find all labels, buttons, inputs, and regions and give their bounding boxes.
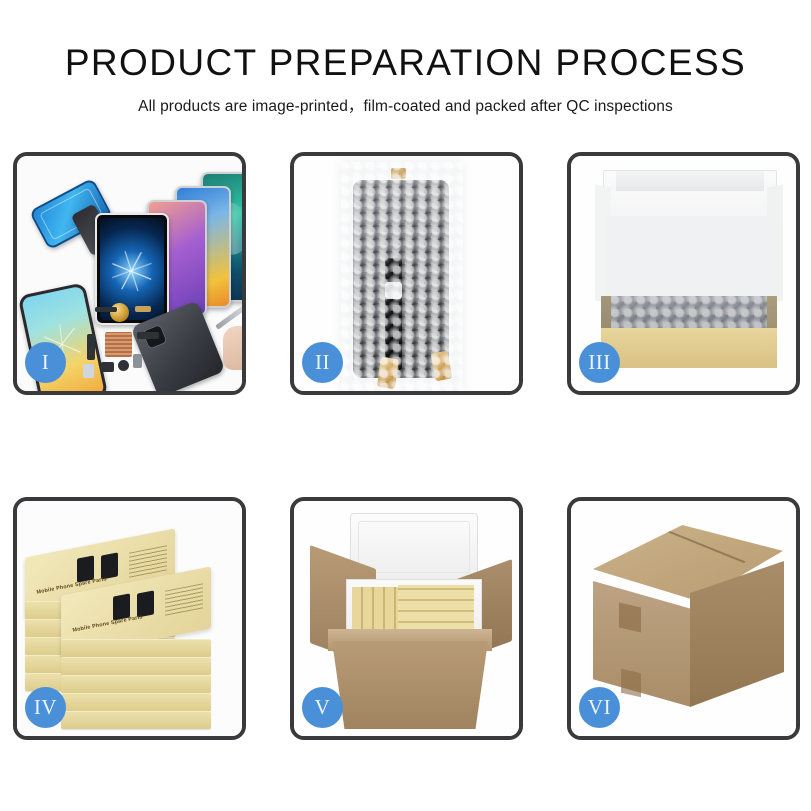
bubble-texture-outer — [341, 162, 463, 391]
box-art-screen-right — [137, 590, 154, 617]
step-badge-2: II — [302, 342, 343, 383]
step-badge-4: IV — [25, 687, 66, 728]
box-edge — [61, 675, 211, 693]
metal-bracket-icon — [133, 354, 142, 368]
camera-ring-icon — [110, 303, 129, 322]
step-badge-1: I — [25, 342, 66, 383]
box-art-screen-right — [101, 552, 118, 579]
step-panel-4: Mobile Phone Spare Parts Mobile Phone Sp… — [13, 497, 246, 740]
bubble-wrap-sleeve — [341, 162, 463, 391]
connector-icon — [137, 332, 159, 339]
box-edge — [61, 657, 211, 675]
header: PRODUCT PREPARATION PROCESS All products… — [0, 0, 811, 116]
flex-cable-icon — [87, 334, 95, 360]
box-edge — [61, 711, 211, 729]
step-panel-2: II — [290, 152, 523, 395]
gold-flex-icon — [135, 306, 151, 312]
step-panel-5: V — [290, 497, 523, 740]
sim-tray-icon — [83, 364, 94, 378]
kraft-box-front-icon — [601, 328, 777, 368]
box-edge — [61, 693, 211, 711]
small-part-icon — [95, 307, 117, 312]
steps-grid: I II — [13, 152, 800, 740]
step-panel-6: VI — [567, 497, 800, 740]
step-badge-3: III — [579, 342, 620, 383]
chip-grid-icon — [105, 332, 132, 357]
page-subtitle: All products are image-printed，film-coat… — [0, 94, 811, 116]
step-panel-3: III — [567, 152, 800, 395]
product-preparation-infographic: PRODUCT PREPARATION PROCESS All products… — [0, 0, 811, 811]
hand-icon — [223, 326, 242, 370]
page-title: PRODUCT PREPARATION PROCESS — [0, 44, 811, 83]
tape-patch-upper-icon — [619, 602, 641, 632]
speaker-part-icon — [101, 362, 114, 372]
carton-body-icon — [332, 641, 488, 729]
step-badge-6: VI — [579, 687, 620, 728]
box-edge — [61, 639, 211, 657]
step-panel-1: I — [13, 152, 246, 395]
tape-patch-lower-icon — [621, 669, 641, 698]
step-badge-5: V — [302, 687, 343, 728]
button-part-icon — [118, 360, 129, 371]
foam-sheet-icon — [607, 216, 771, 298]
